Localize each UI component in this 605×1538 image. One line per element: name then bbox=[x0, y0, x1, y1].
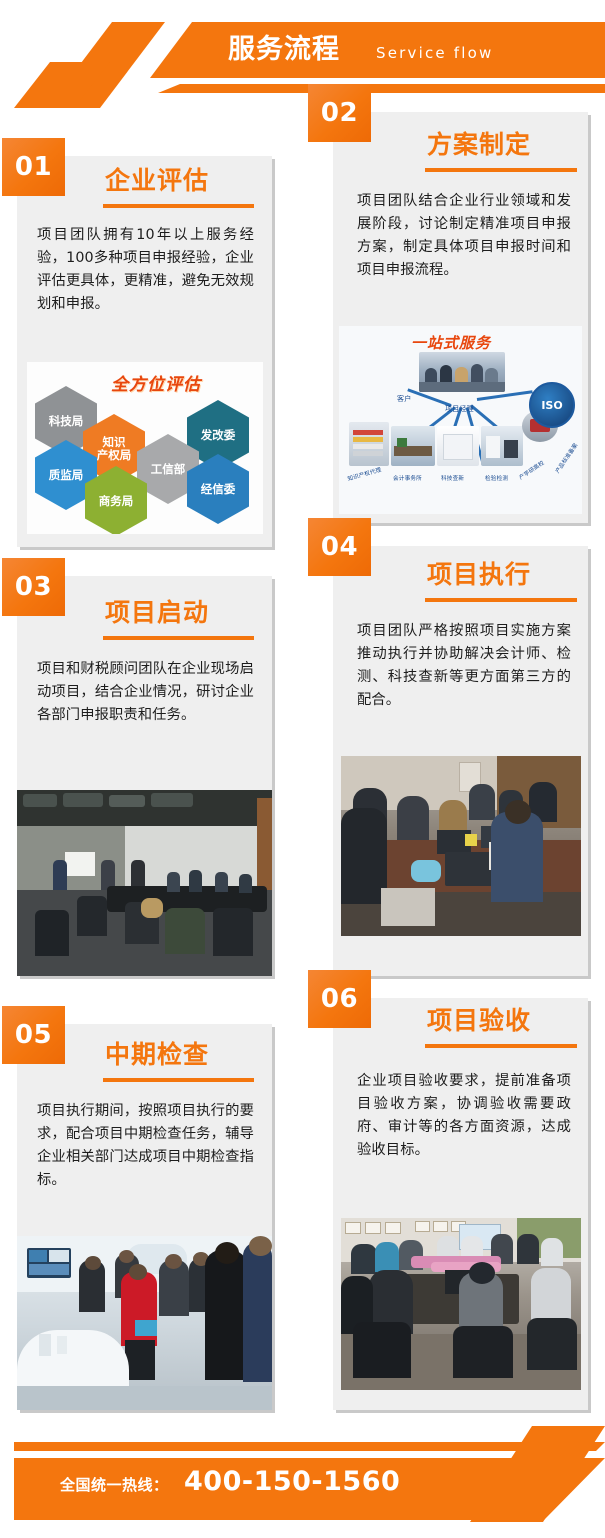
service-label: 会计事务所 bbox=[393, 474, 422, 482]
step-card-05: 05 中期检查 项目执行期间，按照项目执行的要求，配合项目中期检查任务，辅导企业… bbox=[17, 1024, 272, 1410]
title-underline bbox=[103, 204, 254, 208]
step-number-badge: 05 bbox=[2, 1006, 65, 1064]
hex-diagram-title: 全方位评估 bbox=[111, 370, 201, 395]
title-underline bbox=[425, 168, 577, 172]
title-underline bbox=[103, 1078, 254, 1082]
title-underline bbox=[425, 1044, 577, 1048]
title-underline bbox=[425, 598, 577, 602]
service-node-accounting bbox=[391, 426, 435, 466]
step-description: 项目团队拥有10年以上服务经验，100多种项目申报经验，企业评估更具体，更精准，… bbox=[37, 224, 254, 316]
hotline-number: 400-150-1560 bbox=[184, 1466, 400, 1497]
photo-working-meeting bbox=[341, 756, 581, 936]
header-banner-stripe bbox=[158, 84, 605, 93]
step-title: 项目执行 bbox=[427, 560, 531, 590]
photo-conference-room bbox=[17, 790, 272, 976]
step-number-badge: 06 bbox=[308, 970, 371, 1028]
step-description: 项目和财税顾问团队在企业现场启动项目，结合企业情况，研讨企业各部门申报职责和任务… bbox=[37, 658, 254, 727]
photo-showroom-visit bbox=[17, 1236, 272, 1410]
service-node-research bbox=[437, 426, 479, 466]
step-card-03: 03 项目启动 项目和财税顾问团队在企业现场启动项目，结合企业情况，研讨企业各部… bbox=[17, 576, 272, 976]
project-manager-label: 项目经理 bbox=[445, 404, 474, 414]
step-number-badge: 04 bbox=[308, 518, 371, 576]
footer-stripe bbox=[14, 1442, 605, 1451]
step-card-04: 04 项目执行 项目团队严格按照项目实施方案推动执行并协助解决会计师、检测、科技… bbox=[333, 546, 588, 976]
step-description: 项目团队严格按照项目实施方案推动执行并协助解决会计师、检测、科技查新等更方面第三… bbox=[357, 620, 571, 712]
one-stop-title: 一站式服务 bbox=[411, 332, 491, 353]
step-card-02: 02 方案制定 项目团队结合企业行业领域和发展阶段，讨论制定精准项目申报方案，制… bbox=[333, 112, 588, 523]
step-description: 企业项目验收要求，提前准备项目验收方案，协调验收需要政府、审计等的各方面资源，达… bbox=[357, 1070, 571, 1162]
hotline-label: 全国统一热线： bbox=[60, 1474, 169, 1495]
photo-boardroom-meeting bbox=[341, 1218, 581, 1390]
step-title: 中期检查 bbox=[105, 1040, 209, 1070]
step-number-badge: 03 bbox=[2, 558, 65, 616]
meeting-photo-node bbox=[419, 352, 505, 392]
page-subtitle: Service flow bbox=[376, 43, 494, 63]
step-number-badge: 01 bbox=[2, 138, 65, 196]
step-number-badge: 02 bbox=[308, 84, 371, 142]
service-label: 产品标准备案 bbox=[553, 441, 579, 474]
service-flow-infographic: 服务流程 Service flow 01 企业评估 项目团队拥有10年以上服务经… bbox=[0, 0, 605, 1538]
step-description: 项目团队结合企业行业领域和发展阶段，讨论制定精准项目申报方案，制定具体项目申报时… bbox=[357, 190, 571, 282]
step-card-06: 06 项目验收 企业项目验收要求，提前准备项目验收方案，协调验收需要政府、审计等… bbox=[333, 998, 588, 1410]
page-footer: 全国统一热线： 400-150-1560 bbox=[0, 1420, 605, 1538]
service-label: 检验检测 bbox=[485, 474, 508, 482]
step-title: 企业评估 bbox=[105, 166, 209, 196]
one-stop-service-diagram: 一站式服务 客户 项目经理 bbox=[339, 326, 582, 514]
step-title: 项目验收 bbox=[427, 1006, 531, 1036]
step-title: 项目启动 bbox=[105, 598, 209, 628]
page-title: 服务流程 bbox=[228, 33, 340, 67]
hex-assessment-diagram: 全方位评估 科技局 知识 产权局 发改委 质监局 工信部 商务局 经信委 bbox=[27, 362, 263, 534]
service-node-testing bbox=[481, 426, 523, 466]
service-label: 知识产权代理 bbox=[347, 465, 383, 482]
client-label: 客户 bbox=[397, 394, 411, 404]
step-description: 项目执行期间，按照项目执行的要求，配合项目中期检查任务，辅导企业相关部门达成项目… bbox=[37, 1100, 254, 1192]
title-underline bbox=[103, 636, 254, 640]
iso-seal-icon: ISO bbox=[529, 382, 575, 428]
step-card-01: 01 企业评估 项目团队拥有10年以上服务经验，100多种项目申报经验，企业评估… bbox=[17, 156, 272, 547]
step-title: 方案制定 bbox=[427, 130, 531, 160]
page-header: 服务流程 Service flow bbox=[0, 0, 605, 108]
service-node-ip bbox=[349, 422, 389, 466]
service-label: 科技查新 bbox=[441, 474, 464, 482]
